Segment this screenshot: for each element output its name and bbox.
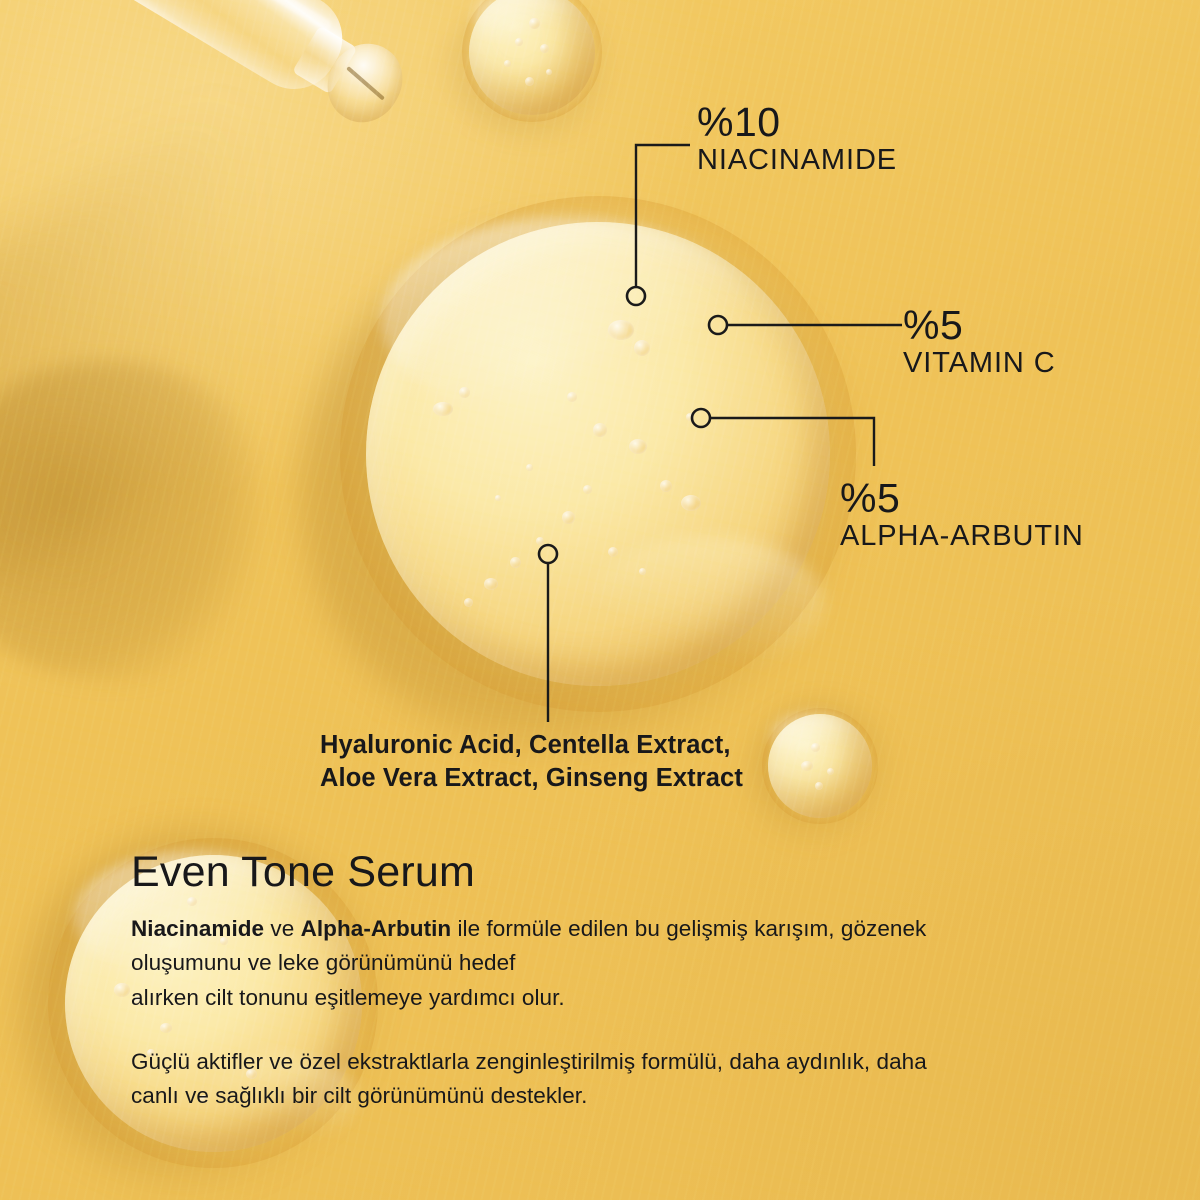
- callout-niacinamide: %10 NIACINAMIDE: [697, 101, 897, 177]
- leader-line-niacinamide: [636, 145, 690, 287]
- circle-marker-icon-vitamin-c: [709, 316, 727, 334]
- callout-ingredient: NIACINAMIDE: [697, 144, 897, 177]
- highlight-alpha-arbutin: Alpha-Arbutin: [301, 916, 452, 941]
- page-title: Even Tone Serum: [131, 849, 1091, 896]
- product-paragraph-2: Güçlü aktifler ve özel ekstraktlarla zen…: [131, 1045, 1091, 1113]
- callout-vitamin-c: %5 VITAMIN C: [903, 304, 1056, 380]
- paragraph-1-line3: alırken cilt tonunu eşitlemeye yardımcı …: [131, 985, 565, 1010]
- paragraph-1-line1-rest: ile formüle edilen bu gelişmiş karışım, …: [451, 916, 926, 941]
- leader-line-alpha-arbutin: [710, 418, 874, 466]
- callout-extracts-line2: Aloe Vera Extract, Ginseng Extract: [320, 762, 743, 795]
- circle-marker-icon-niacinamide: [627, 287, 645, 305]
- paragraph-1-connector: ve: [264, 916, 300, 941]
- callout-extracts-line1: Hyaluronic Acid, Centella Extract,: [320, 729, 743, 762]
- callout-percent: %5: [840, 477, 1084, 520]
- product-paragraph-1: Niacinamide ve Alpha-Arbutin ile formüle…: [131, 912, 1091, 1015]
- circle-marker-icon-alpha-arbutin: [692, 409, 710, 427]
- highlight-niacinamide: Niacinamide: [131, 916, 264, 941]
- callout-extracts: Hyaluronic Acid, Centella Extract, Aloe …: [320, 729, 743, 795]
- callout-ingredient: VITAMIN C: [903, 347, 1056, 380]
- callout-percent: %5: [903, 304, 1056, 347]
- paragraph-2-line2: canlı ve sağlıklı bir cilt görünümünü de…: [131, 1083, 587, 1108]
- circle-marker-icon-extracts: [539, 545, 557, 563]
- product-hero-image: %10 NIACINAMIDE %5 VITAMIN C %5 ALPHA-AR…: [0, 0, 1200, 1200]
- paragraph-1-line2: oluşumunu ve leke görünümünü hedef: [131, 950, 515, 975]
- callout-percent: %10: [697, 101, 897, 144]
- callout-alpha-arbutin: %5 ALPHA-ARBUTIN: [840, 477, 1084, 553]
- product-copy-block: Even Tone Serum Niacinamide ve Alpha-Arb…: [131, 849, 1091, 1113]
- callout-ingredient: ALPHA-ARBUTIN: [840, 520, 1084, 553]
- paragraph-2-line1: Güçlü aktifler ve özel ekstraktlarla zen…: [131, 1049, 927, 1074]
